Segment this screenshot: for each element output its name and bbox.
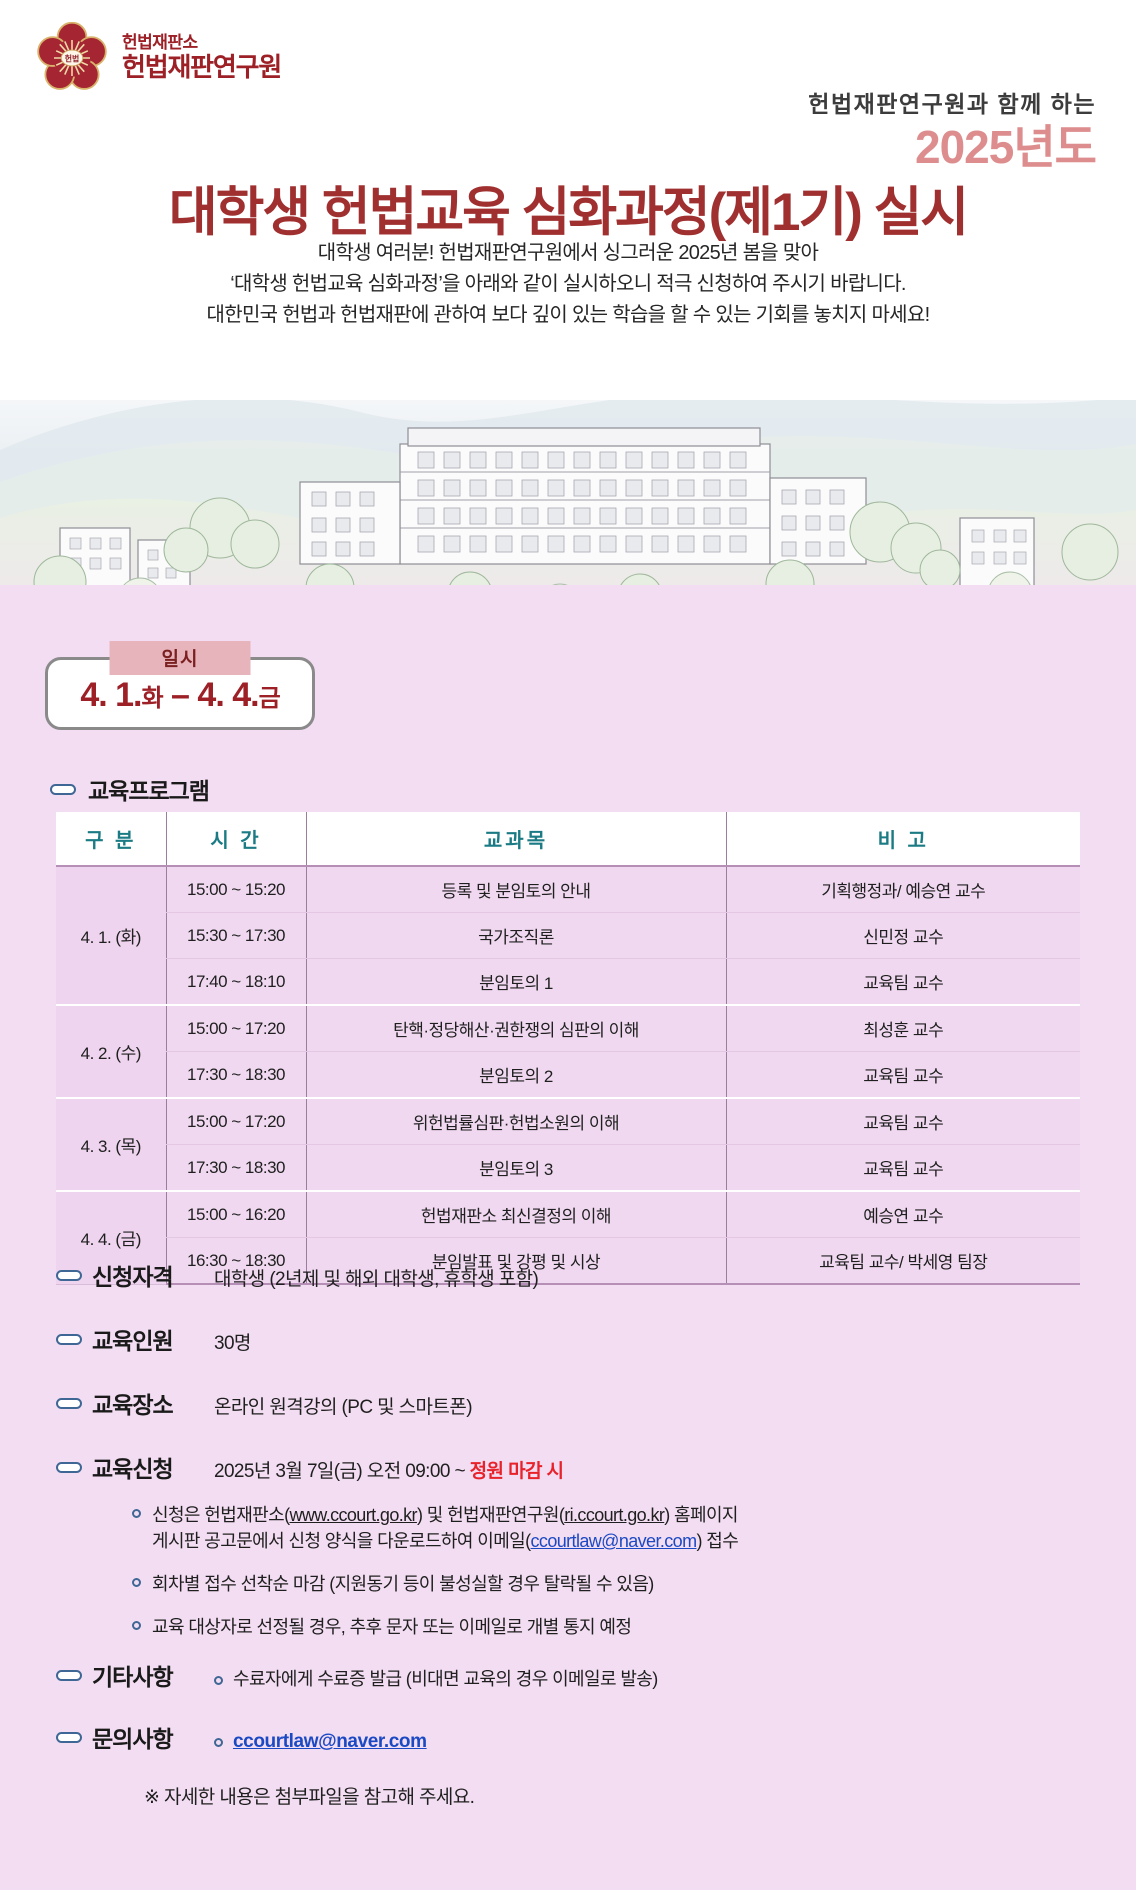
date-start-weekday: 화 xyxy=(142,685,163,712)
contact-label: 문의사항 xyxy=(92,1720,204,1754)
organization-logo: 헌법 헌법재판소 헌법재판연구원 xyxy=(36,22,281,94)
cell-subject: 등록 및 분임토의 안내 xyxy=(306,866,726,913)
cell-day: 4. 3. (목) xyxy=(56,1098,166,1191)
program-section-heading: 교육프로그램 xyxy=(50,772,209,806)
cell-subject: 탄핵·정당해산·권한쟁의 심판의 이해 xyxy=(306,1005,726,1052)
cell-note: 교육팀 교수 xyxy=(726,1098,1080,1145)
link-email-apply[interactable]: ccourtlaw@naver.com xyxy=(531,1531,697,1551)
info-row-contact: 문의사항 ccourtlaw@naver.com xyxy=(56,1720,1086,1754)
date-badge-value: 4. 1.화 – 4. 4.금 xyxy=(74,676,286,715)
table-row: 4. 1. (화)15:00 ~ 15:20등록 및 분임토의 안내기획행정과/… xyxy=(56,866,1080,913)
pill-bullet-icon xyxy=(56,1398,82,1409)
cell-note: 예승연 교수 xyxy=(726,1191,1080,1238)
cell-time: 17:30 ~ 18:30 xyxy=(166,1145,306,1192)
cell-time: 17:30 ~ 18:30 xyxy=(166,1052,306,1099)
other-value: 수료자에게 수료증 발급 (비대면 교육의 경우 이메일로 발송) xyxy=(233,1665,658,1691)
org-name-small: 헌법재판소 xyxy=(122,34,281,52)
cell-note: 교육팀 교수 xyxy=(726,1145,1080,1192)
apply-note-firstcome: 회차별 접수 선착순 마감 (지원동기 등이 불성실할 경우 탈락될 수 있음) xyxy=(152,1571,654,1597)
cell-time: 17:40 ~ 18:10 xyxy=(166,959,306,1006)
apply-note-homepage: 신청은 헌법재판소(www.ccourt.go.kr) 및 헌법재판연구원(ri… xyxy=(152,1502,738,1554)
date-dash: – xyxy=(163,676,198,714)
table-header-row: 구 분 시 간 교과목 비 고 xyxy=(56,812,1080,866)
table-row: 17:40 ~ 18:10분임토의 1교육팀 교수 xyxy=(56,959,1080,1006)
apply-note-notification: 교육 대상자로 선정될 경우, 추후 문자 또는 이메일로 개별 통지 예정 xyxy=(152,1614,631,1640)
other-label: 기타사항 xyxy=(92,1658,204,1692)
org-name-large: 헌법재판연구원 xyxy=(122,54,281,81)
eligibility-label: 신청자격 xyxy=(92,1258,204,1292)
table-body: 4. 1. (화)15:00 ~ 15:20등록 및 분임토의 안내기획행정과/… xyxy=(56,866,1080,1284)
pill-bullet-icon xyxy=(56,1670,82,1681)
date-start: 4. 1. xyxy=(80,676,141,714)
link-ri-ccourt[interactable]: ri.ccourt.go.kr xyxy=(564,1505,664,1525)
capacity-label: 교육인원 xyxy=(92,1322,204,1356)
cell-day: 4. 2. (수) xyxy=(56,1005,166,1098)
program-heading-label: 교육프로그램 xyxy=(88,772,209,806)
venue-value: 온라인 원격강의 (PC 및 스마트폰) xyxy=(214,1392,472,1419)
page-title: 대학생 헌법교육 심화과정(제1기) 실시 xyxy=(0,170,1136,246)
cell-subject: 국가조직론 xyxy=(306,913,726,959)
cell-time: 15:30 ~ 17:30 xyxy=(166,913,306,959)
intro-paragraph: 대학생 여러분! 헌법재판연구원에서 싱그러운 2025년 봄을 맞아 ‘대학생… xyxy=(0,238,1136,331)
date-end-weekday: 금 xyxy=(259,685,280,712)
list-item: 회차별 접수 선착순 마감 (지원동기 등이 불성실할 경우 탈락될 수 있음) xyxy=(132,1571,1086,1597)
link-ccourt[interactable]: www.ccourt.go.kr xyxy=(289,1505,416,1525)
info-row-capacity: 교육인원 30명 xyxy=(56,1322,1086,1356)
note-text-a: 신청은 헌법재판소( xyxy=(152,1505,289,1525)
date-badge: 일시 4. 1.화 – 4. 4.금 xyxy=(45,657,315,730)
capacity-value: 30명 xyxy=(214,1328,251,1355)
table-row: 17:30 ~ 18:30분임토의 2교육팀 교수 xyxy=(56,1052,1080,1099)
cell-time: 15:00 ~ 17:20 xyxy=(166,1005,306,1052)
note-text-d: 게시판 공고문에서 신청 양식을 다운로드하여 이메일( xyxy=(152,1531,531,1551)
column-header-time: 시 간 xyxy=(166,812,306,866)
ring-bullet-icon xyxy=(132,1621,141,1630)
pill-bullet-icon xyxy=(56,1462,82,1473)
cell-time: 15:00 ~ 15:20 xyxy=(166,866,306,913)
column-header-day: 구 분 xyxy=(56,812,166,866)
cell-subject: 분임토의 3 xyxy=(306,1145,726,1192)
cell-day: 4. 1. (화) xyxy=(56,866,166,1005)
venue-label: 교육장소 xyxy=(92,1386,204,1420)
pill-bullet-icon xyxy=(56,1334,82,1345)
apply-value: 2025년 3월 7일(금) 오전 09:00 ~ 정원 마감 시 xyxy=(214,1456,563,1483)
program-schedule-table: 구 분 시 간 교과목 비 고 4. 1. (화)15:00 ~ 15:20등록… xyxy=(56,812,1080,1285)
note-text-e: ) 접수 xyxy=(696,1531,738,1551)
cell-subject: 분임토의 1 xyxy=(306,959,726,1006)
ring-bullet-icon xyxy=(214,1676,223,1685)
year-text: 2025년도 xyxy=(808,123,1096,171)
info-row-eligibility: 신청자격 대학생 (2년제 및 해외 대학생, 휴학생 포함) xyxy=(56,1258,1086,1292)
footnote-text: ※ 자세한 내용은 첨부파일을 참고해 주세요. xyxy=(144,1782,1086,1809)
table-row: 4. 2. (수)15:00 ~ 17:20탄핵·정당해산·권한쟁의 심판의 이… xyxy=(56,1005,1080,1052)
eligibility-value: 대학생 (2년제 및 해외 대학생, 휴학생 포함) xyxy=(214,1264,538,1291)
cell-subject: 위헌법률심판·헌법소원의 이해 xyxy=(306,1098,726,1145)
details-section: 신청자격 대학생 (2년제 및 해외 대학생, 휴학생 포함) 교육인원 30명… xyxy=(56,1258,1086,1809)
column-header-note: 비 고 xyxy=(726,812,1080,866)
info-row-other: 기타사항 수료자에게 수료증 발급 (비대면 교육의 경우 이메일로 발송) xyxy=(56,1658,1086,1692)
info-row-venue: 교육장소 온라인 원격강의 (PC 및 스마트폰) xyxy=(56,1386,1086,1420)
pill-bullet-icon xyxy=(56,1270,82,1281)
column-header-subject: 교과목 xyxy=(306,812,726,866)
kicker-text: 헌법재판연구원과 함께 하는 xyxy=(808,85,1096,119)
apply-deadline-highlight: 정원 마감 시 xyxy=(470,1461,564,1482)
list-item: 교육 대상자로 선정될 경우, 추후 문자 또는 이메일로 개별 통지 예정 xyxy=(132,1614,1086,1640)
ring-bullet-icon xyxy=(132,1509,141,1518)
contact-email-link[interactable]: ccourtlaw@naver.com xyxy=(233,1731,427,1753)
cell-subject: 헌법재판소 최신결정의 이해 xyxy=(306,1191,726,1238)
date-end: 4. 4. xyxy=(197,676,258,714)
pill-bullet-icon xyxy=(50,784,76,795)
intro-line-1: 대학생 여러분! 헌법재판연구원에서 싱그러운 2025년 봄을 맞아 xyxy=(0,238,1136,269)
note-text-b: ) 및 헌법재판연구원( xyxy=(417,1505,564,1525)
date-badge-label: 일시 xyxy=(110,641,251,675)
cell-note: 최성훈 교수 xyxy=(726,1005,1080,1052)
title-kicker-block: 헌법재판연구원과 함께 하는 2025년도 xyxy=(808,85,1096,171)
table-row: 4. 3. (목)15:00 ~ 17:20위헌법률심판·헌법소원의 이해교육팀… xyxy=(56,1098,1080,1145)
table-row: 17:30 ~ 18:30분임토의 3교육팀 교수 xyxy=(56,1145,1080,1192)
constitutional-court-emblem-icon: 헌법 xyxy=(36,22,108,94)
table-row: 15:30 ~ 17:30국가조직론신민정 교수 xyxy=(56,913,1080,959)
cell-time: 15:00 ~ 17:20 xyxy=(166,1098,306,1145)
cell-subject: 분임토의 2 xyxy=(306,1052,726,1099)
apply-notes-list: 신청은 헌법재판소(www.ccourt.go.kr) 및 헌법재판연구원(ri… xyxy=(132,1502,1086,1640)
intro-line-2: ‘대학생 헌법교육 심화과정’을 아래와 같이 실시하오니 적극 신청하여 주시… xyxy=(0,269,1136,300)
intro-line-3: 대한민국 헌법과 헌법재판에 관하여 보다 깊이 있는 학습을 할 수 있는 기… xyxy=(0,300,1136,331)
cell-note: 교육팀 교수 xyxy=(726,1052,1080,1099)
emblem-text: 헌법 xyxy=(65,54,80,64)
cell-note: 신민정 교수 xyxy=(726,913,1080,959)
poster-root: 헌법 헌법재판소 헌법재판연구원 헌법재판연구원과 함께 하는 2025년도 대… xyxy=(0,0,1136,1890)
ring-bullet-icon xyxy=(214,1738,223,1747)
apply-period: 2025년 3월 7일(금) 오전 09:00 ~ xyxy=(214,1461,470,1482)
ring-bullet-icon xyxy=(132,1578,141,1587)
cell-time: 15:00 ~ 16:20 xyxy=(166,1191,306,1238)
table-row: 4. 4. (금)15:00 ~ 16:20헌법재판소 최신결정의 이해예승연 … xyxy=(56,1191,1080,1238)
poster-header: 헌법 헌법재판소 헌법재판연구원 헌법재판연구원과 함께 하는 2025년도 대… xyxy=(0,0,1136,400)
list-item: 신청은 헌법재판소(www.ccourt.go.kr) 및 헌법재판연구원(ri… xyxy=(132,1502,1086,1554)
apply-label: 교육신청 xyxy=(92,1450,204,1484)
cell-note: 기획행정과/ 예승연 교수 xyxy=(726,866,1080,913)
info-row-apply: 교육신청 2025년 3월 7일(금) 오전 09:00 ~ 정원 마감 시 xyxy=(56,1450,1086,1484)
pill-bullet-icon xyxy=(56,1732,82,1743)
cell-note: 교육팀 교수 xyxy=(726,959,1080,1006)
note-text-c: ) 홈페이지 xyxy=(664,1505,738,1525)
